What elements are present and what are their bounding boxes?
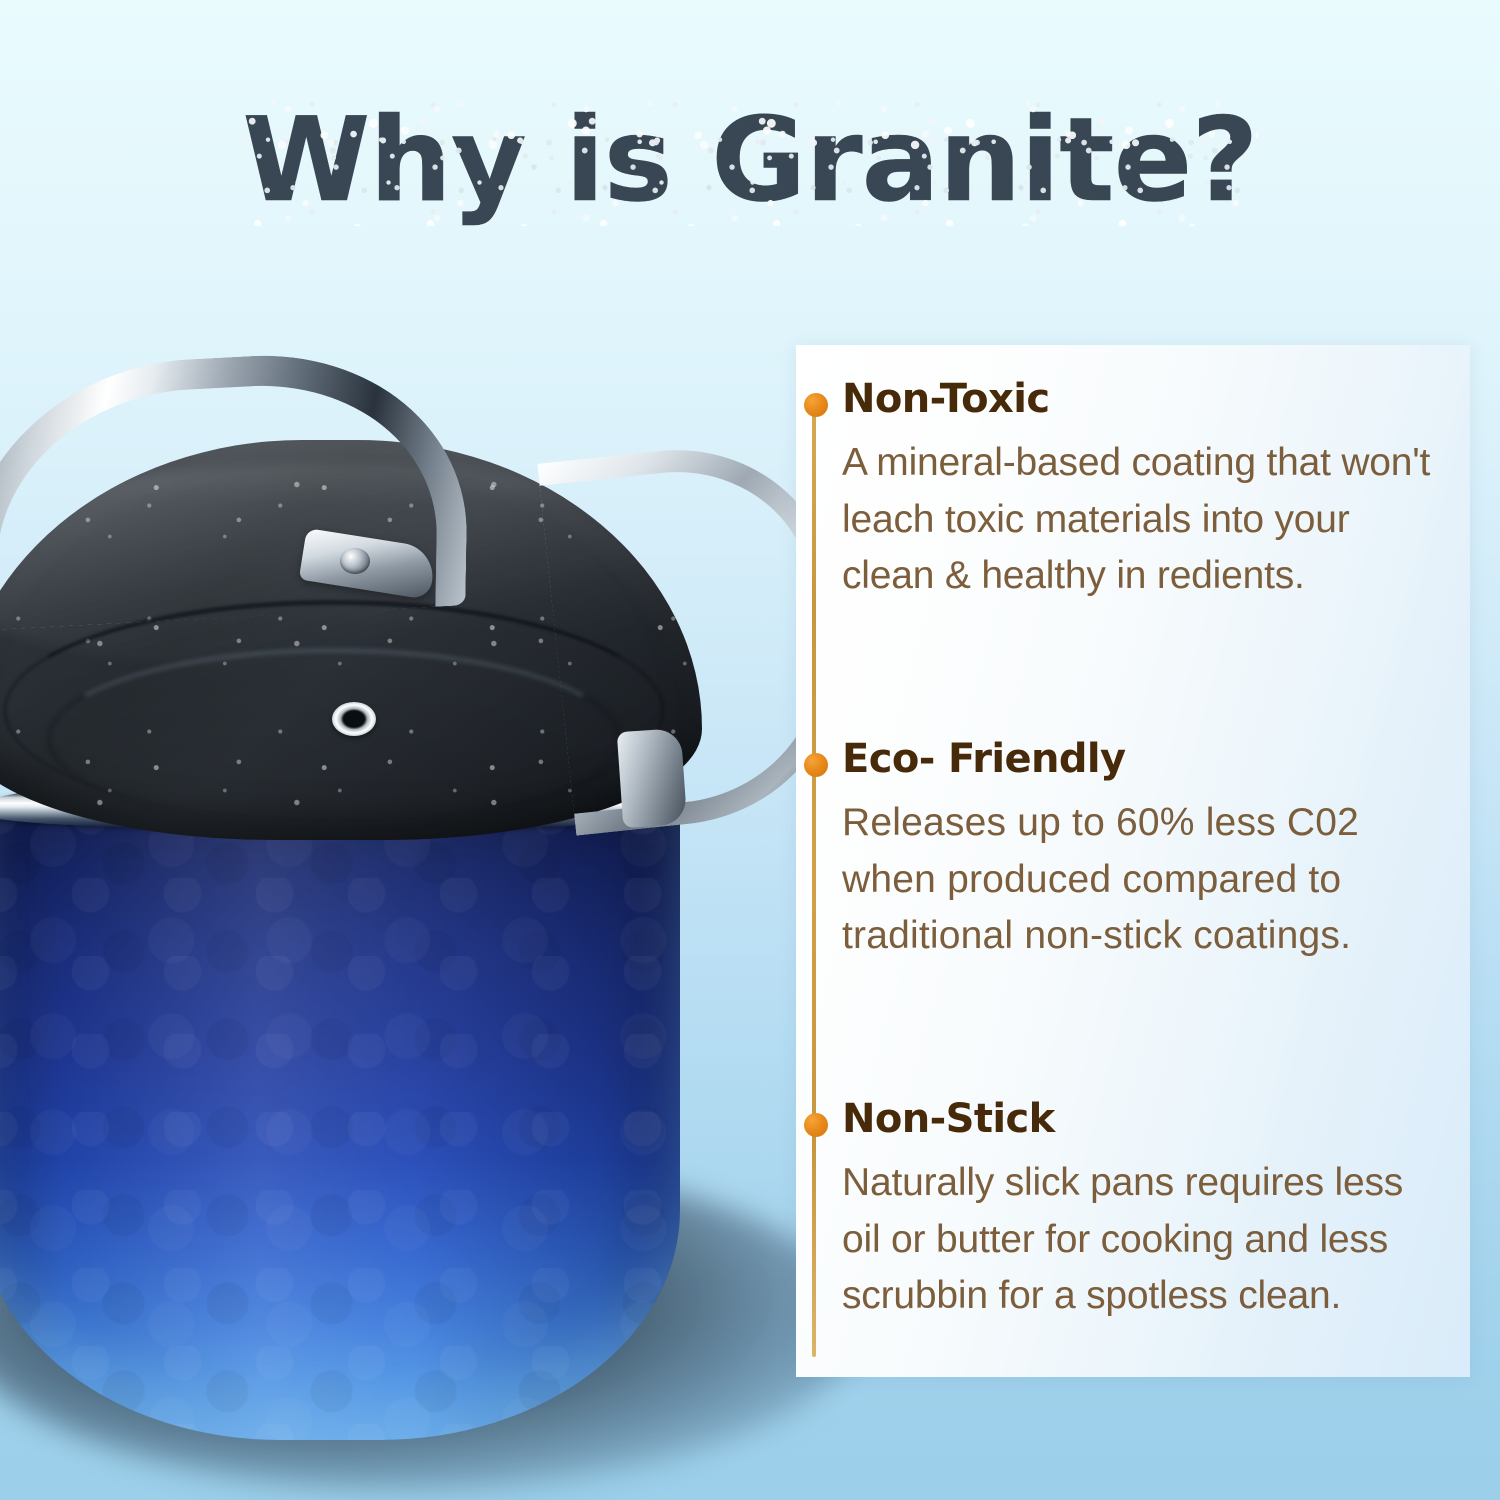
pot-body <box>0 800 680 1440</box>
feature-item-non-toxic: Non-Toxic A mineral-based coating that w… <box>842 377 1438 605</box>
feature-item-non-stick: Non-Stick Naturally slick pans requires … <box>842 1097 1438 1325</box>
bullet-dot-icon <box>804 1113 828 1137</box>
page-title-container: Why is Granite? <box>0 96 1500 226</box>
bullet-dot-icon <box>804 393 828 417</box>
feature-description: Releases up to 60% less C02 when produce… <box>842 795 1438 965</box>
timeline-connector-line <box>812 397 816 1357</box>
lid-reflection-arc-secondary <box>47 648 620 829</box>
feature-title: Eco- Friendly <box>842 737 1438 781</box>
feature-description: A mineral-based coating that won't leach… <box>842 435 1438 605</box>
product-image-stock-pot <box>0 330 880 1500</box>
pot-hammered-texture <box>0 800 680 1440</box>
feature-description: Naturally slick pans requires less oil o… <box>842 1155 1438 1325</box>
features-panel: Non-Toxic A mineral-based coating that w… <box>796 345 1470 1377</box>
bullet-dot-icon <box>804 753 828 777</box>
infographic-canvas: Why is Granite? Non-Toxic A mineral-ba <box>0 0 1500 1500</box>
lid-handle-rivet <box>340 548 370 574</box>
pot-side-handle-mount <box>617 728 688 828</box>
feature-title: Non-Stick <box>842 1097 1438 1141</box>
page-title-text: Why is Granite? <box>242 93 1257 228</box>
feature-title: Non-Toxic <box>842 377 1438 421</box>
feature-item-eco-friendly: Eco- Friendly Releases up to 60% less C0… <box>842 737 1438 965</box>
lid-steam-vent-icon <box>332 702 376 736</box>
page-title: Why is Granite? <box>242 96 1257 226</box>
